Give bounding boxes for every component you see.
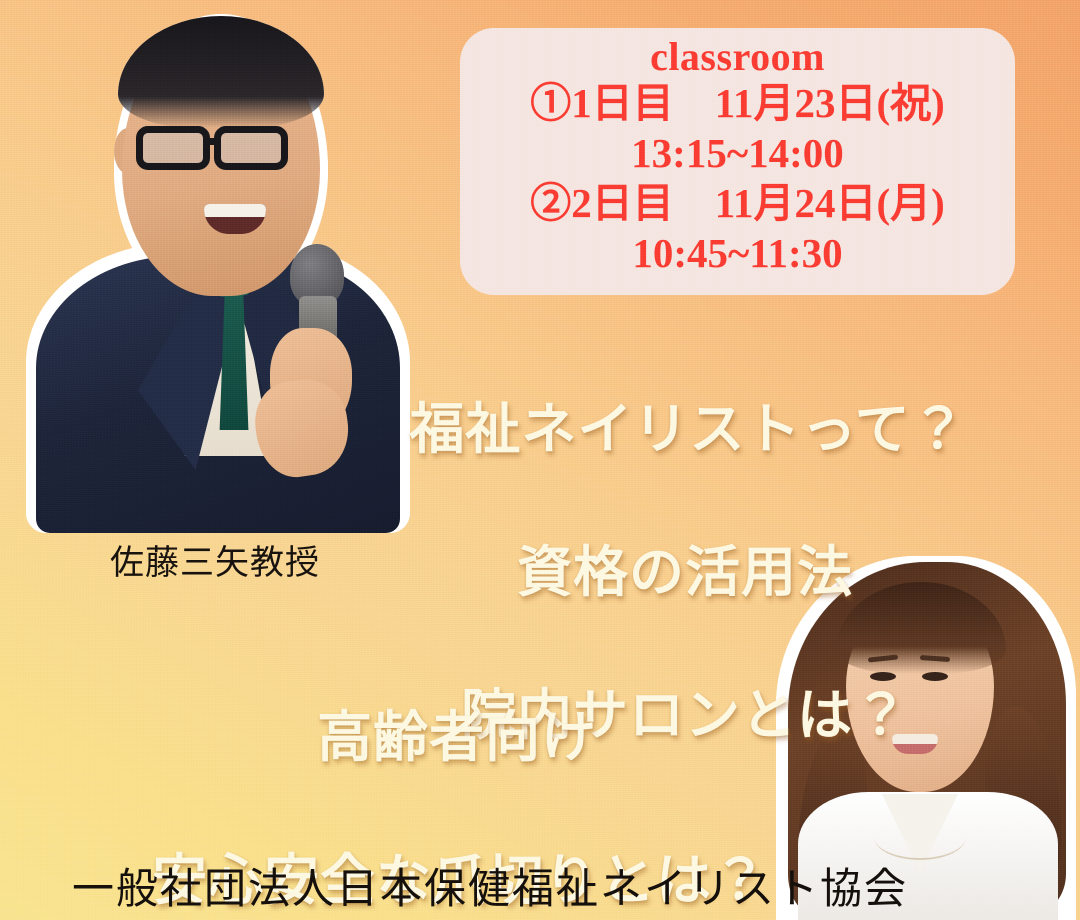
schedule-day1-label: ①1日目 11月23日(祝) bbox=[530, 78, 945, 128]
schedule-day2-label: ②2日目 11月24日(月) bbox=[530, 178, 945, 228]
speaker-male-caption: 佐藤三矢教授 bbox=[110, 535, 320, 584]
headline-primary-line1: 福祉ネイリストって？ bbox=[355, 394, 1015, 466]
schedule-day2-time: 10:45~11:30 bbox=[632, 228, 842, 278]
glasses-bridge bbox=[208, 138, 218, 145]
headline-secondary-line1: 高齢者向け bbox=[110, 702, 810, 774]
organization-name: 一般社団法人日本保健福祉ネイリスト協会 bbox=[72, 855, 908, 916]
glasses-lens-left bbox=[136, 126, 210, 170]
schedule-title: classroom bbox=[650, 36, 825, 78]
hair bbox=[118, 16, 324, 128]
schedule-box: classroom ①1日目 11月23日(祝) 13:15~14:00 ②2日… bbox=[460, 28, 1015, 295]
headline-primary-line2: 資格の活用法 bbox=[355, 537, 1015, 609]
poster-canvas: classroom ①1日目 11月23日(祝) 13:15~14:00 ②2日… bbox=[0, 0, 1080, 920]
schedule-day1-time: 13:15~14:00 bbox=[631, 128, 844, 178]
teeth bbox=[204, 204, 266, 217]
glasses-lens-right bbox=[214, 126, 288, 170]
